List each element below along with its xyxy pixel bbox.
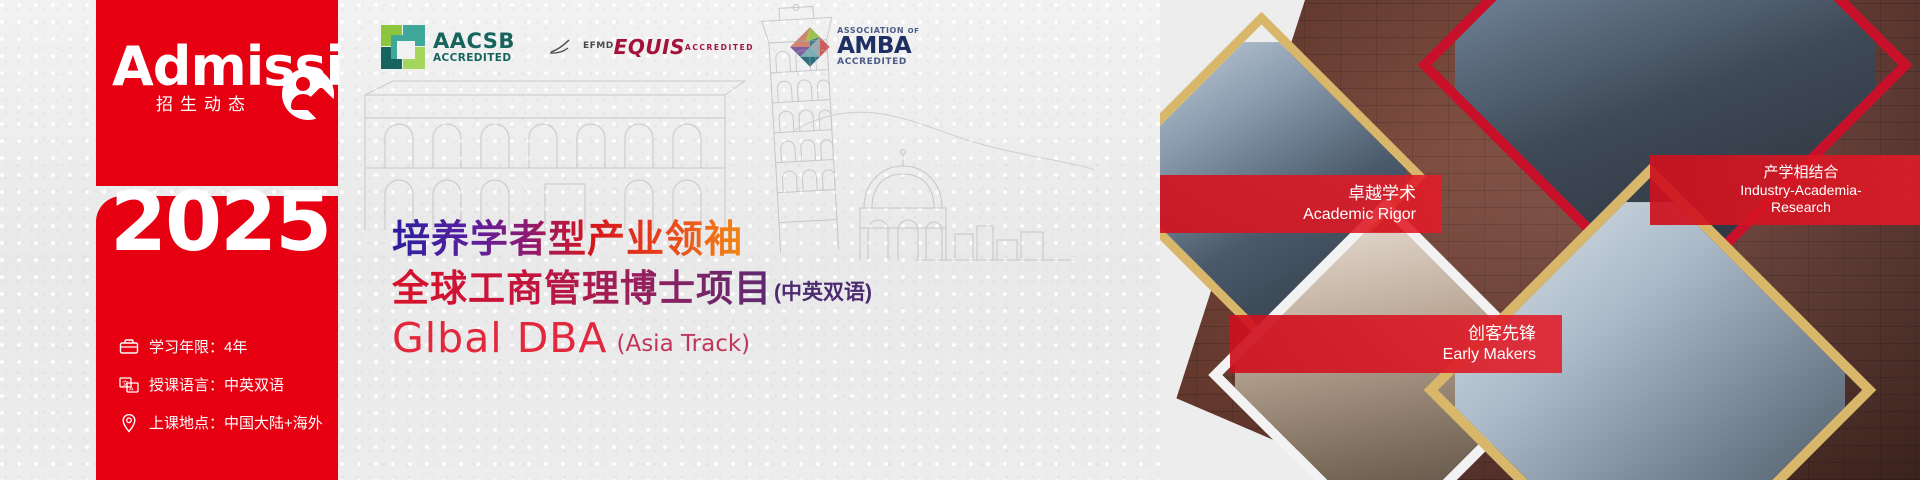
logo-chinese-text: 招生动态: [156, 90, 252, 115]
headline-title-en-row: Glbal DBA (Asia Track): [392, 318, 872, 359]
headline-title-cn: 全球工商管理博士项目: [392, 269, 772, 310]
feature-badge-industry-en: Industry-Academia-: [1666, 182, 1920, 199]
headline-title-cn-row: 全球工商管理博士项目 (中英双语): [392, 269, 872, 310]
info-value-language: 中英双语: [224, 374, 284, 395]
photo-collage: 卓越学术 Academic Rigor 产学相结合 Industry-Acade…: [1160, 0, 1920, 480]
language-icon: 文A: [118, 375, 140, 395]
info-row-duration: 学习年限： 4年: [118, 336, 348, 357]
headline-title-cn-suffix: (中英双语): [774, 276, 872, 309]
feature-badge-makers-en: Early Makers: [1246, 345, 1536, 365]
headline-title-en-suffix: (Asia Track): [616, 331, 750, 359]
admission-banner: Admissi 招生动态 2025 学习年限： 4年 文A 授课语言： 中英双语…: [0, 0, 1920, 480]
feature-badge-industry: 产学相结合 Industry-Academia- Research: [1650, 155, 1920, 225]
feature-badge-makers: 创客先锋 Early Makers: [1230, 315, 1562, 373]
feature-badge-industry-cn: 产学相结合: [1666, 164, 1920, 182]
book-icon: [118, 337, 140, 357]
headline-tagline: 培养学者型产业领袖: [392, 218, 872, 261]
svg-text:A: A: [129, 384, 134, 392]
headline-block: 培养学者型产业领袖 全球工商管理博士项目 (中英双语) Glbal DBA (A…: [392, 218, 872, 359]
feature-badge-academic-cn: 卓越学术: [1160, 184, 1416, 205]
program-info-list: 学习年限： 4年 文A 授课语言： 中英双语 上课地点： 中国大陆+海外: [118, 336, 348, 450]
feature-badge-academic-en: Academic Rigor: [1160, 205, 1416, 225]
info-label-language: 授课语言：: [149, 374, 224, 395]
info-label-duration: 学习年限：: [149, 336, 224, 357]
year-label: 2025: [110, 182, 330, 264]
headline-title-en: Glbal DBA: [392, 318, 607, 359]
feature-badge-academic: 卓越学术 Academic Rigor: [1160, 175, 1442, 233]
info-value-location: 中国大陆+海外: [224, 412, 323, 433]
location-pin-icon: [118, 413, 140, 433]
info-value-duration: 4年: [224, 336, 247, 357]
info-label-location: 上课地点：: [149, 412, 224, 433]
feature-badge-industry-en2: Research: [1666, 199, 1920, 216]
info-row-location: 上课地点： 中国大陆+海外: [118, 412, 348, 433]
feature-badge-makers-cn: 创客先锋: [1246, 324, 1536, 345]
info-row-language: 文A 授课语言： 中英双语: [118, 374, 348, 395]
admission-logo: Admissi 招生动态: [112, 40, 342, 118]
